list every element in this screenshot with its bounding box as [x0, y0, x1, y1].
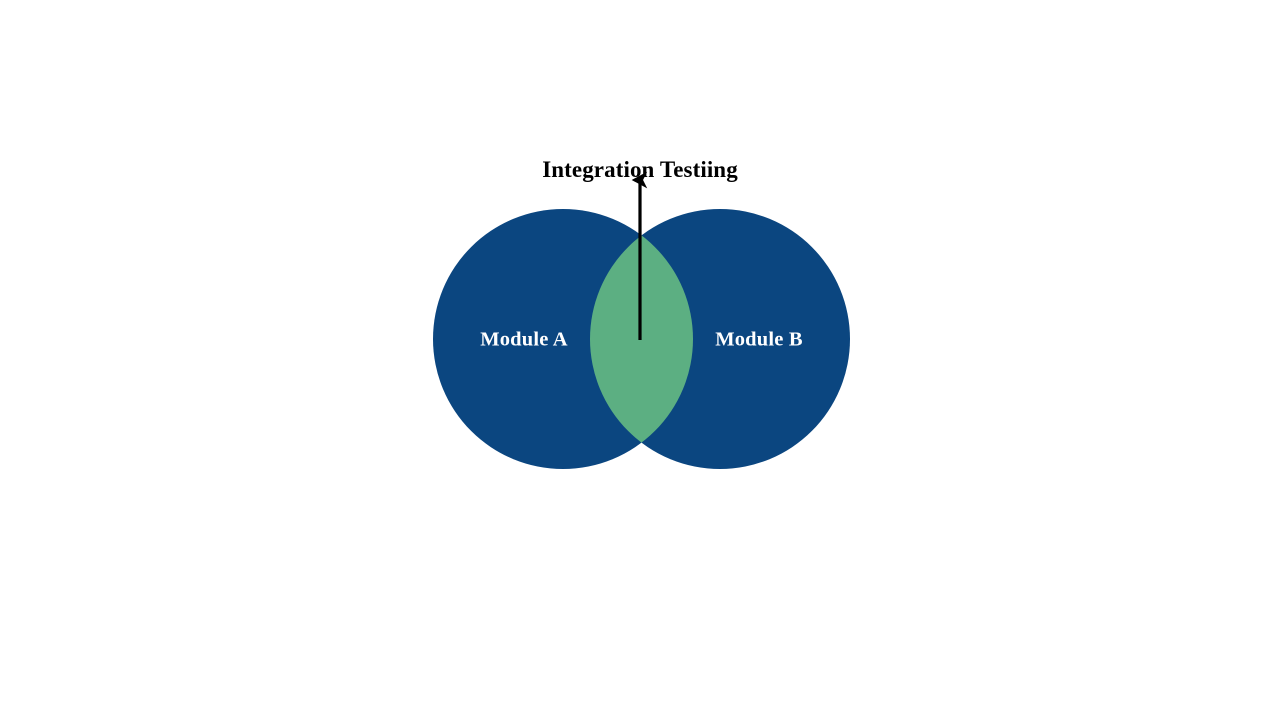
callout-title: Integration Testiing [542, 157, 738, 182]
venn-diagram: Module A Module B Integration Testiing [0, 0, 1280, 720]
venn-label-module-b: Module B [715, 329, 803, 351]
venn-label-module-a: Module A [480, 329, 568, 351]
diagram-canvas: Module A Module B Integration Testiing [0, 0, 1280, 720]
